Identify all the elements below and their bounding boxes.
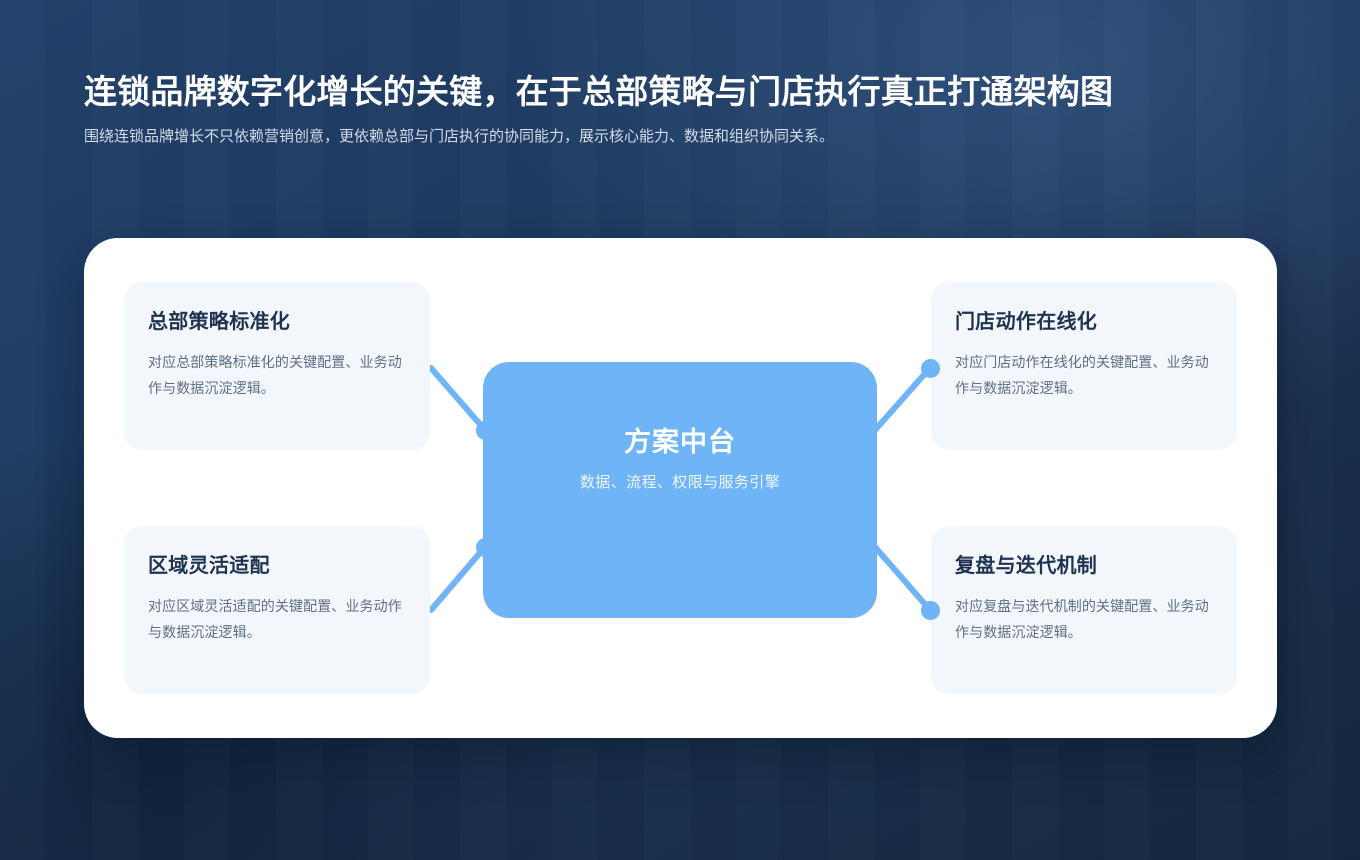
branch-title: 总部策略标准化 [148, 308, 406, 336]
diagram-panel: 方案中台 数据、流程、权限与服务引擎 总部策略标准化 对应总部策略标准化的关键配… [84, 238, 1277, 738]
branch-title: 区域灵活适配 [148, 552, 406, 580]
branch-description: 对应区域灵活适配的关键配置、业务动作与数据沉淀逻辑。 [148, 593, 406, 645]
node-dot-card-top-right [921, 359, 940, 378]
branch-description: 对应门店动作在线化的关键配置、业务动作与数据沉淀逻辑。 [955, 349, 1213, 401]
header: 连锁品牌数字化增长的关键，在于总部策略与门店执行真正打通架构图 围绕连锁品牌增长… [84, 70, 1299, 150]
hub-node[interactable]: 方案中台 数据、流程、权限与服务引擎 [483, 362, 877, 618]
slide-canvas: 连锁品牌数字化增长的关键，在于总部策略与门店执行真正打通架构图 围绕连锁品牌增长… [0, 0, 1360, 860]
branch-description: 对应总部策略标准化的关键配置、业务动作与数据沉淀逻辑。 [148, 349, 406, 401]
page-subtitle: 围绕连锁品牌增长不只依赖营销创意，更依赖总部与门店执行的协同能力，展示核心能力、… [84, 123, 844, 150]
branch-title: 门店动作在线化 [955, 308, 1213, 336]
connector-top-left [431, 368, 485, 430]
connector-bottom-left [431, 547, 485, 610]
hub-and-spoke-diagram: 方案中台 数据、流程、权限与服务引擎 总部策略标准化 对应总部策略标准化的关键配… [84, 238, 1277, 738]
branch-card-bottom-left[interactable]: 区域灵活适配 对应区域灵活适配的关键配置、业务动作与数据沉淀逻辑。 [124, 526, 430, 694]
hub-subtitle: 数据、流程、权限与服务引擎 [580, 472, 780, 494]
branch-card-top-right[interactable]: 门店动作在线化 对应门店动作在线化的关键配置、业务动作与数据沉淀逻辑。 [931, 282, 1237, 450]
node-dot-card-bottom-right [921, 601, 940, 620]
connector-bottom-right [875, 547, 930, 610]
node-dot-hub-top-left [476, 421, 495, 440]
branch-card-bottom-right[interactable]: 复盘与迭代机制 对应复盘与迭代机制的关键配置、业务动作与数据沉淀逻辑。 [931, 526, 1237, 694]
branch-card-top-left[interactable]: 总部策略标准化 对应总部策略标准化的关键配置、业务动作与数据沉淀逻辑。 [124, 282, 430, 450]
connector-top-right [875, 368, 930, 430]
branch-description: 对应复盘与迭代机制的关键配置、业务动作与数据沉淀逻辑。 [955, 593, 1213, 645]
hub-title: 方案中台 [624, 424, 736, 460]
page-title: 连锁品牌数字化增长的关键，在于总部策略与门店执行真正打通架构图 [84, 70, 1299, 114]
branch-title: 复盘与迭代机制 [955, 552, 1213, 580]
node-dot-hub-bottom-left [476, 538, 495, 557]
